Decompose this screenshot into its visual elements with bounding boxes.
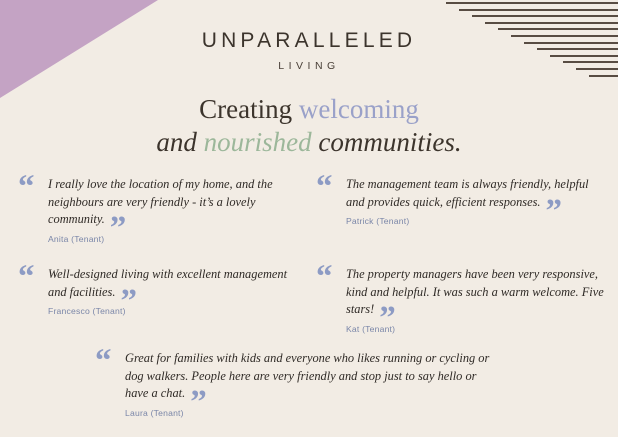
testimonial-card: “The management team is always friendly,…	[316, 176, 606, 226]
headline-text-communities: communities.	[312, 127, 462, 157]
quote-open-icon: “	[316, 261, 333, 294]
testimonial-body: “I really love the location of my home, …	[18, 176, 290, 229]
quote-open-icon: “	[18, 171, 35, 204]
logo-primary-text: UNPARALLELED	[0, 30, 618, 51]
testimonial-author: Patrick (Tenant)	[316, 216, 606, 226]
headline-line-1: Creating welcoming	[0, 93, 618, 126]
testimonial-body: “Great for families with kids and everyo…	[95, 350, 495, 403]
page-title: Creating welcoming and nourished communi…	[0, 93, 618, 159]
stripe-line	[446, 2, 618, 4]
testimonial-text: I really love the location of my home, a…	[48, 177, 273, 226]
quote-open-icon: “	[316, 171, 333, 204]
testimonial-author: Anita (Tenant)	[18, 234, 290, 244]
quote-open-icon: “	[95, 345, 112, 378]
testimonial-author: Laura (Tenant)	[95, 408, 495, 418]
testimonial-body: “The property managers have been very re…	[316, 266, 606, 319]
headline-accent-welcoming: welcoming	[299, 94, 419, 124]
logo-secondary-text: LIVING	[0, 61, 618, 72]
testimonial-author: Kat (Tenant)	[316, 324, 606, 334]
quote-open-icon: “	[18, 261, 35, 294]
testimonials-slide: UNPARALLELED LIVING Creating welcoming a…	[0, 0, 618, 437]
testimonial-card: “I really love the location of my home, …	[18, 176, 290, 244]
headline-text-creating: Creating	[199, 94, 299, 124]
testimonial-author: Francesco (Tenant)	[18, 306, 290, 316]
testimonial-card: “Well-designed living with excellent man…	[18, 266, 290, 316]
stripe-line	[485, 22, 618, 24]
headline-line-2: and nourished communities.	[0, 126, 618, 159]
headline-accent-nourished: nourished	[204, 127, 312, 157]
testimonial-text: Great for families with kids and everyon…	[125, 351, 489, 400]
stripe-line	[459, 9, 618, 11]
stripe-line	[589, 75, 618, 77]
stripe-line	[472, 15, 618, 17]
brand-logo: UNPARALLELED LIVING	[0, 30, 618, 72]
testimonial-card: “The property managers have been very re…	[316, 266, 606, 334]
headline-text-and: and	[156, 127, 203, 157]
testimonial-body: “The management team is always friendly,…	[316, 176, 606, 211]
testimonial-text: Well-designed living with excellent mana…	[48, 267, 287, 299]
testimonial-card: “Great for families with kids and everyo…	[95, 350, 495, 418]
testimonial-body: “Well-designed living with excellent man…	[18, 266, 290, 301]
